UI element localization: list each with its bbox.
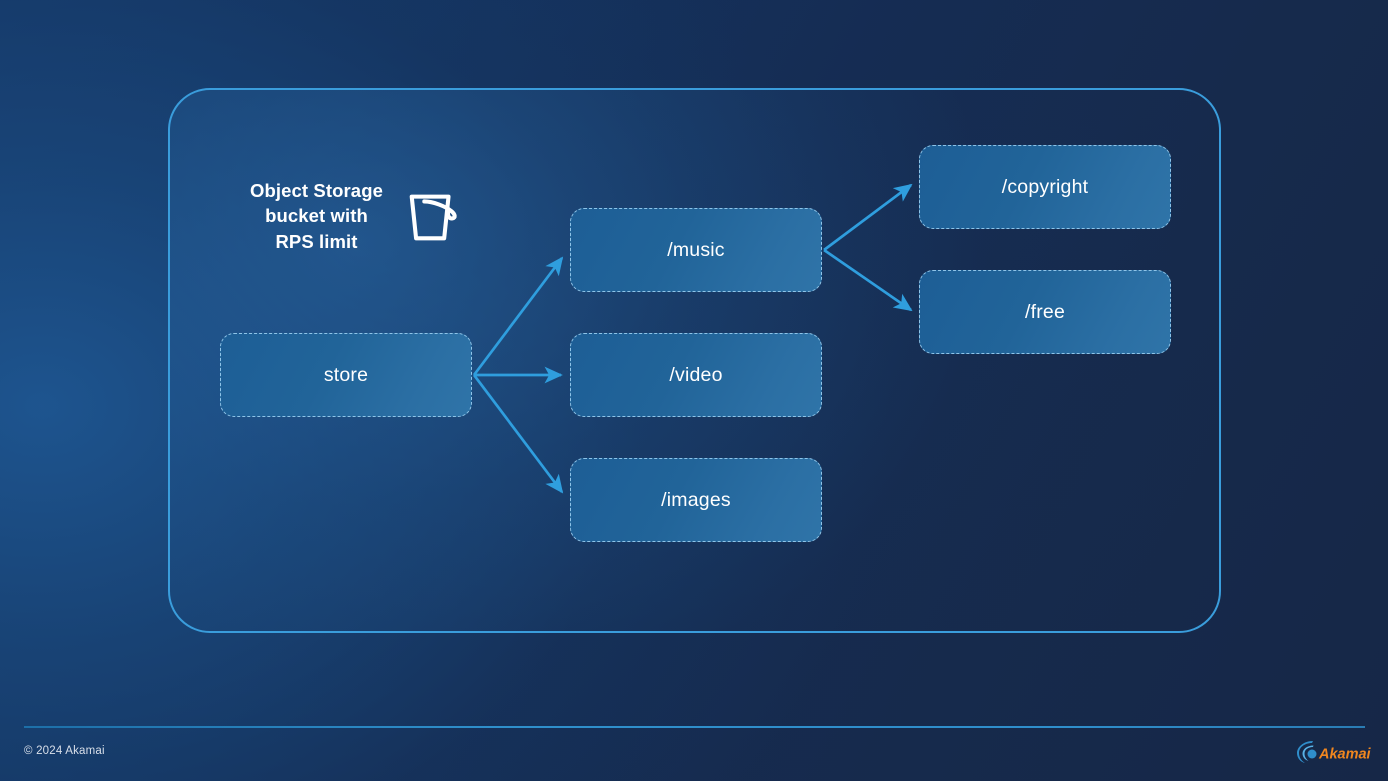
node-video[interactable]: /video (570, 333, 822, 417)
slide-canvas: Object Storage bucket with RPS limit sto… (0, 0, 1388, 781)
node-free[interactable]: /free (919, 270, 1171, 354)
legend: Object Storage bucket with RPS limit (250, 178, 465, 254)
node-free-label: /free (1025, 301, 1065, 324)
akamai-logo: Akamai (1293, 738, 1377, 766)
node-store-label: store (324, 364, 368, 387)
node-images-label: /images (661, 489, 731, 512)
legend-label: Object Storage bucket with RPS limit (250, 178, 383, 254)
footer-divider (24, 726, 1365, 728)
node-copyright-label: /copyright (1002, 176, 1089, 199)
node-music-label: /music (667, 239, 725, 262)
node-store[interactable]: store (220, 333, 472, 417)
akamai-logo-text: Akamai (1318, 747, 1372, 763)
node-video-label: /video (669, 364, 722, 387)
node-copyright[interactable]: /copyright (919, 145, 1171, 229)
footer-copyright: © 2024 Akamai (24, 745, 105, 757)
node-music[interactable]: /music (570, 208, 822, 292)
akamai-wave-icon (1297, 741, 1317, 763)
node-images[interactable]: /images (570, 458, 822, 542)
object-storage-bucket-icon (403, 185, 465, 247)
